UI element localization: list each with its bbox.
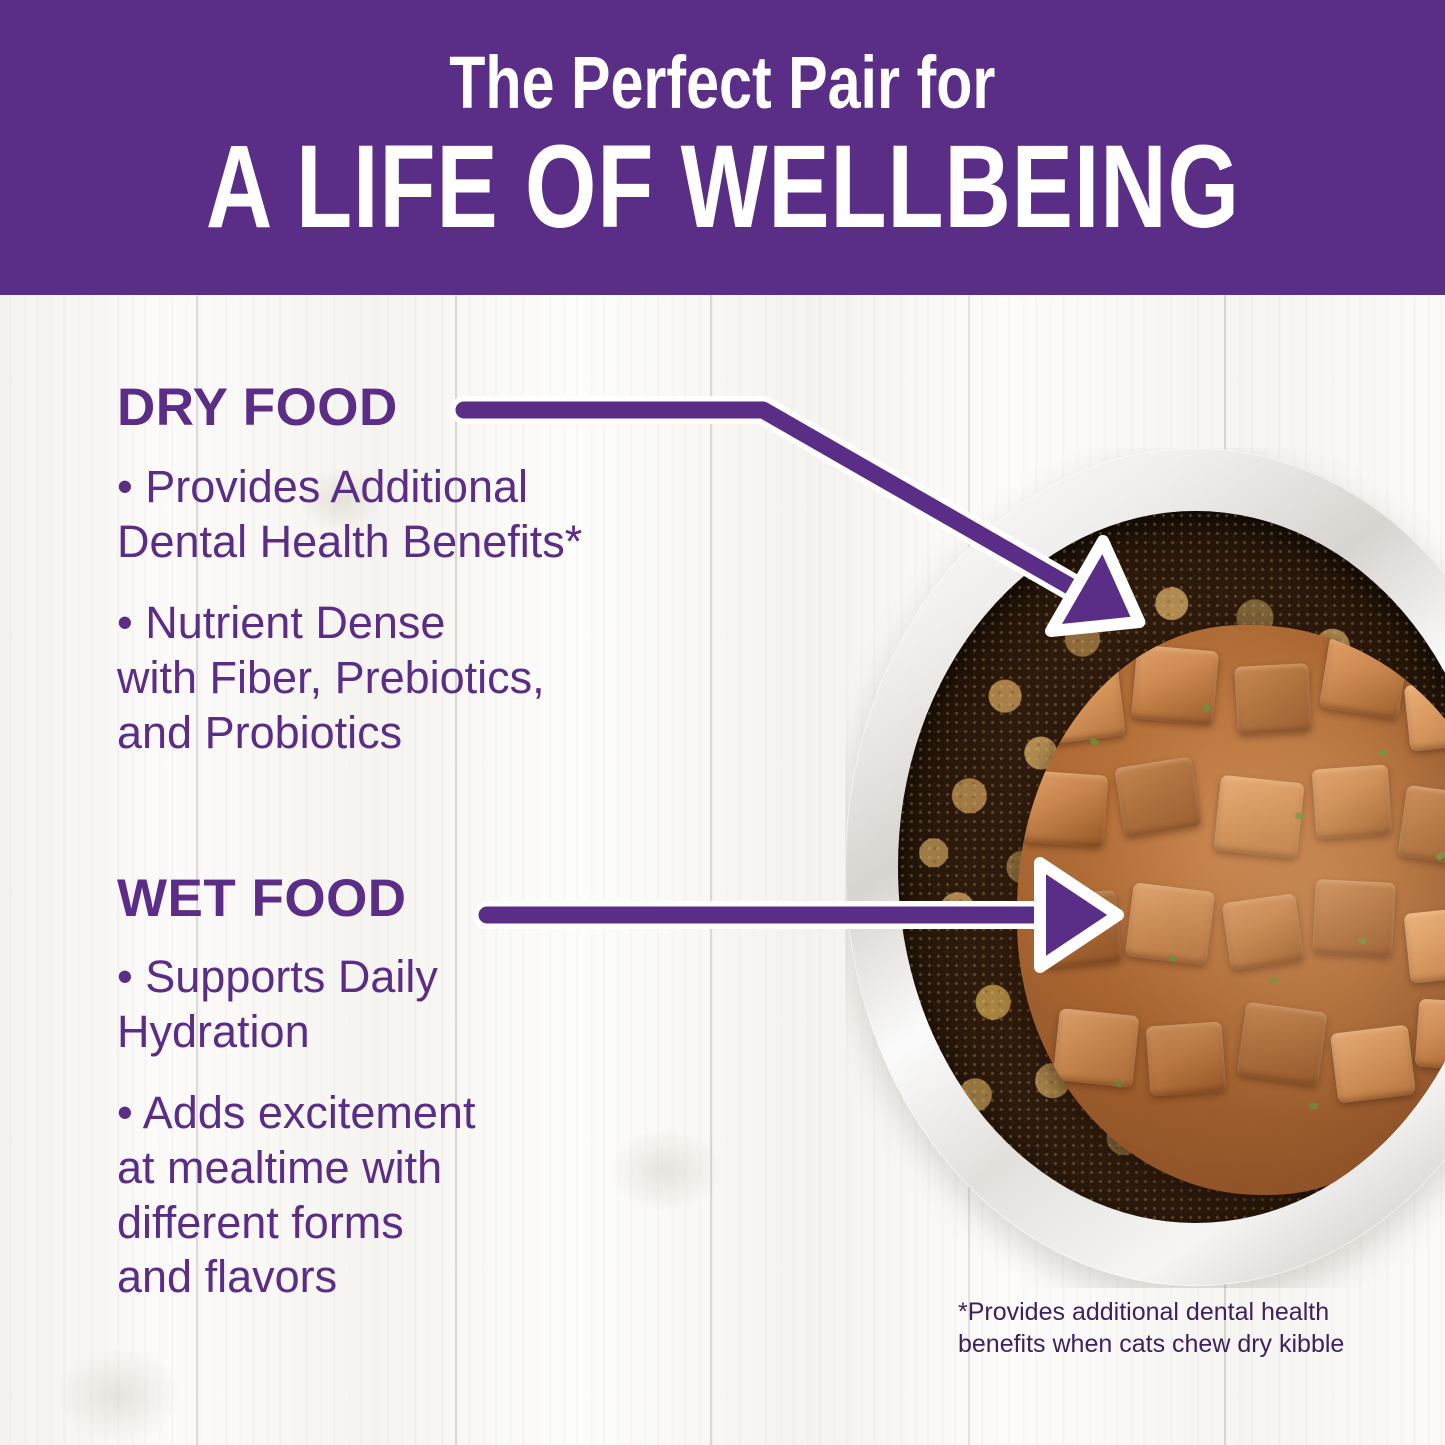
bullet-line: different forms	[117, 1197, 404, 1248]
footnote-line: *Provides additional dental health	[958, 1296, 1378, 1328]
header-banner: The Perfect Pair for A LIFE OF WELLBEING	[0, 0, 1445, 295]
footnote-line: benefits when cats chew dry kibble	[958, 1328, 1378, 1360]
bullet-line: with Fiber, Prebiotics,	[117, 652, 545, 703]
food-bowl-photo	[845, 448, 1445, 1288]
dry-food-bullets: • Provides Additional Dental Health Bene…	[117, 460, 757, 786]
bullet-line: • Supports Daily	[117, 951, 438, 1002]
bullet-line: and flavors	[117, 1251, 337, 1302]
list-item: • Provides Additional Dental Health Bene…	[117, 460, 757, 570]
wet-food-heading: WET FOOD	[117, 868, 407, 929]
list-item: • Supports Daily Hydration	[117, 950, 757, 1060]
bowl-interior	[898, 511, 1445, 1223]
bullet-line: • Adds excitement	[117, 1087, 475, 1138]
bullet-line: • Nutrient Dense	[117, 597, 445, 648]
bullet-line: • Provides Additional	[117, 461, 528, 512]
banner-subtitle: The Perfect Pair for	[449, 46, 995, 120]
banner-title: A LIFE OF WELLBEING	[205, 126, 1239, 249]
dry-food-heading: DRY FOOD	[117, 377, 398, 438]
bullet-line: Dental Health Benefits*	[117, 516, 582, 567]
bullet-line: at mealtime with	[117, 1142, 442, 1193]
bowl-rim	[845, 448, 1445, 1286]
list-item: • Adds excitement at mealtime with diffe…	[117, 1086, 757, 1306]
wet-food-bullets: • Supports Daily Hydration • Adds excite…	[117, 950, 757, 1331]
footnote: *Provides additional dental health benef…	[958, 1296, 1378, 1360]
list-item: • Nutrient Dense with Fiber, Prebiotics,…	[117, 596, 757, 761]
bullet-line: and Probiotics	[117, 707, 402, 758]
bullet-line: Hydration	[117, 1006, 310, 1057]
product-feature-graphic: The Perfect Pair for A LIFE OF WELLBEING…	[0, 0, 1445, 1445]
